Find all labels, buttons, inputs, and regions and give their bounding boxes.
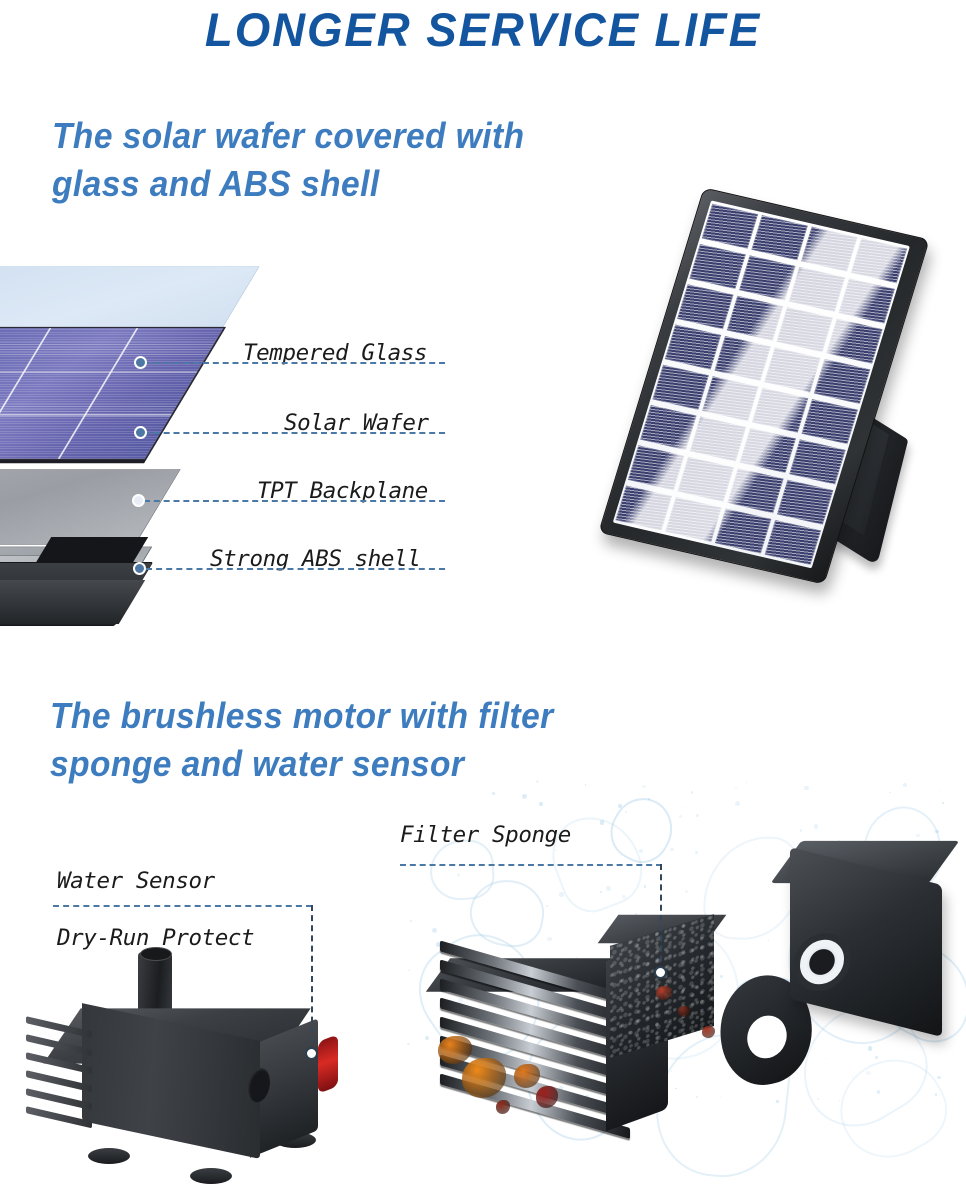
debris-particle xyxy=(702,1026,715,1038)
wafer-surface xyxy=(0,327,226,460)
page-title: LONGER SERVICE LIFE xyxy=(14,2,951,57)
solar-cell xyxy=(665,325,721,369)
section-heading-solar-line1: The solar wafer covered with xyxy=(52,112,525,160)
solar-cell xyxy=(777,308,833,352)
solar-cell xyxy=(715,509,771,553)
callout-filter-sponge: Filter Sponge xyxy=(400,822,571,848)
solar-cell xyxy=(677,285,733,329)
abs-shell-face xyxy=(0,580,145,624)
section-heading-solar-line2: glass and ABS shell xyxy=(52,160,525,208)
leader-filter-sponge-horizontal xyxy=(400,864,662,866)
solar-cell xyxy=(715,336,771,380)
leader-water-sensor-horizontal xyxy=(53,905,312,907)
abs-shell-slot xyxy=(36,537,148,563)
pump-intake-grille xyxy=(26,1016,94,1140)
pump-foot-center xyxy=(190,1168,232,1184)
solar-cell xyxy=(789,440,845,484)
callout-dry-run-protect: Dry-Run Protect xyxy=(57,925,254,951)
leader-filter-sponge-vertical xyxy=(660,864,662,972)
solar-cell xyxy=(814,359,870,403)
marker-water-sensor xyxy=(305,1047,318,1060)
marker-abs-shell xyxy=(133,562,146,575)
solar-cell xyxy=(690,244,746,288)
water-droplet xyxy=(804,786,809,791)
solar-cell xyxy=(727,296,783,340)
section-heading-solar: The solar wafer covered with glass and A… xyxy=(52,112,525,208)
solar-cell xyxy=(752,388,808,432)
solar-wafer-layer xyxy=(0,327,226,460)
solar-cell xyxy=(628,446,684,490)
pump-outlet-nozzle xyxy=(138,952,172,1014)
marker-solar-wafer xyxy=(134,426,147,439)
leader-tempered-glass xyxy=(144,362,445,364)
solar-cell xyxy=(851,238,907,282)
water-droplet xyxy=(492,792,495,795)
solar-cell xyxy=(789,267,845,311)
pump-water-sensor-led xyxy=(318,1034,338,1093)
infographic-canvas: LONGER SERVICE LIFE The solar wafer cove… xyxy=(0,0,966,1200)
solar-cell xyxy=(727,469,783,513)
marker-tpt-backplane xyxy=(132,494,145,507)
water-droplet xyxy=(889,792,891,794)
grille-slot xyxy=(26,1052,92,1074)
pump-foot-left xyxy=(88,1148,130,1164)
solar-cell xyxy=(702,377,758,421)
leader-solar-wafer xyxy=(144,432,445,434)
solar-cell xyxy=(678,457,734,501)
solar-cell xyxy=(752,216,808,260)
solar-cell xyxy=(702,204,758,248)
marker-tempered-glass xyxy=(134,356,147,369)
solar-cell xyxy=(765,520,821,564)
water-droplet xyxy=(903,783,907,787)
motor-exploded-assembly xyxy=(410,800,966,1200)
solar-cell xyxy=(826,319,882,363)
leader-tpt-backplane xyxy=(144,500,445,502)
water-droplet xyxy=(691,791,693,793)
callout-water-sensor: Water Sensor xyxy=(57,868,215,894)
water-droplet xyxy=(642,785,645,788)
solar-cell xyxy=(801,227,857,271)
solar-cell xyxy=(653,365,709,409)
solar-cell xyxy=(665,497,721,541)
tpt-backplane-layer xyxy=(0,469,181,545)
section-heading-motor-line1: The brushless motor with filter xyxy=(50,692,554,740)
grille-slot xyxy=(26,1034,92,1056)
debris-particle xyxy=(496,1100,510,1114)
solar-cell xyxy=(690,417,746,461)
solar-cell xyxy=(802,400,858,444)
grille-slot xyxy=(26,1070,92,1092)
solar-cell xyxy=(839,279,895,323)
water-droplet xyxy=(522,794,527,799)
grille-slot xyxy=(26,1106,92,1128)
solar-cell xyxy=(739,256,795,300)
section-heading-motor: The brushless motor with filter sponge a… xyxy=(50,692,554,788)
solar-cell xyxy=(640,405,696,449)
grille-slot xyxy=(26,1088,92,1110)
leader-abs-shell xyxy=(146,568,445,570)
solar-cell xyxy=(777,480,833,524)
solar-cell xyxy=(616,486,672,530)
water-droplet xyxy=(940,790,941,791)
solar-cell xyxy=(740,428,796,472)
water-droplet xyxy=(746,782,747,783)
water-droplet xyxy=(585,784,586,785)
water-droplet xyxy=(735,787,737,789)
solar-cell xyxy=(764,348,820,392)
marker-filter-sponge xyxy=(654,966,667,979)
solar-panel-photo xyxy=(560,188,966,618)
leader-water-sensor-vertical xyxy=(311,905,313,1053)
section-heading-motor-line2: sponge and water sensor xyxy=(50,740,554,788)
